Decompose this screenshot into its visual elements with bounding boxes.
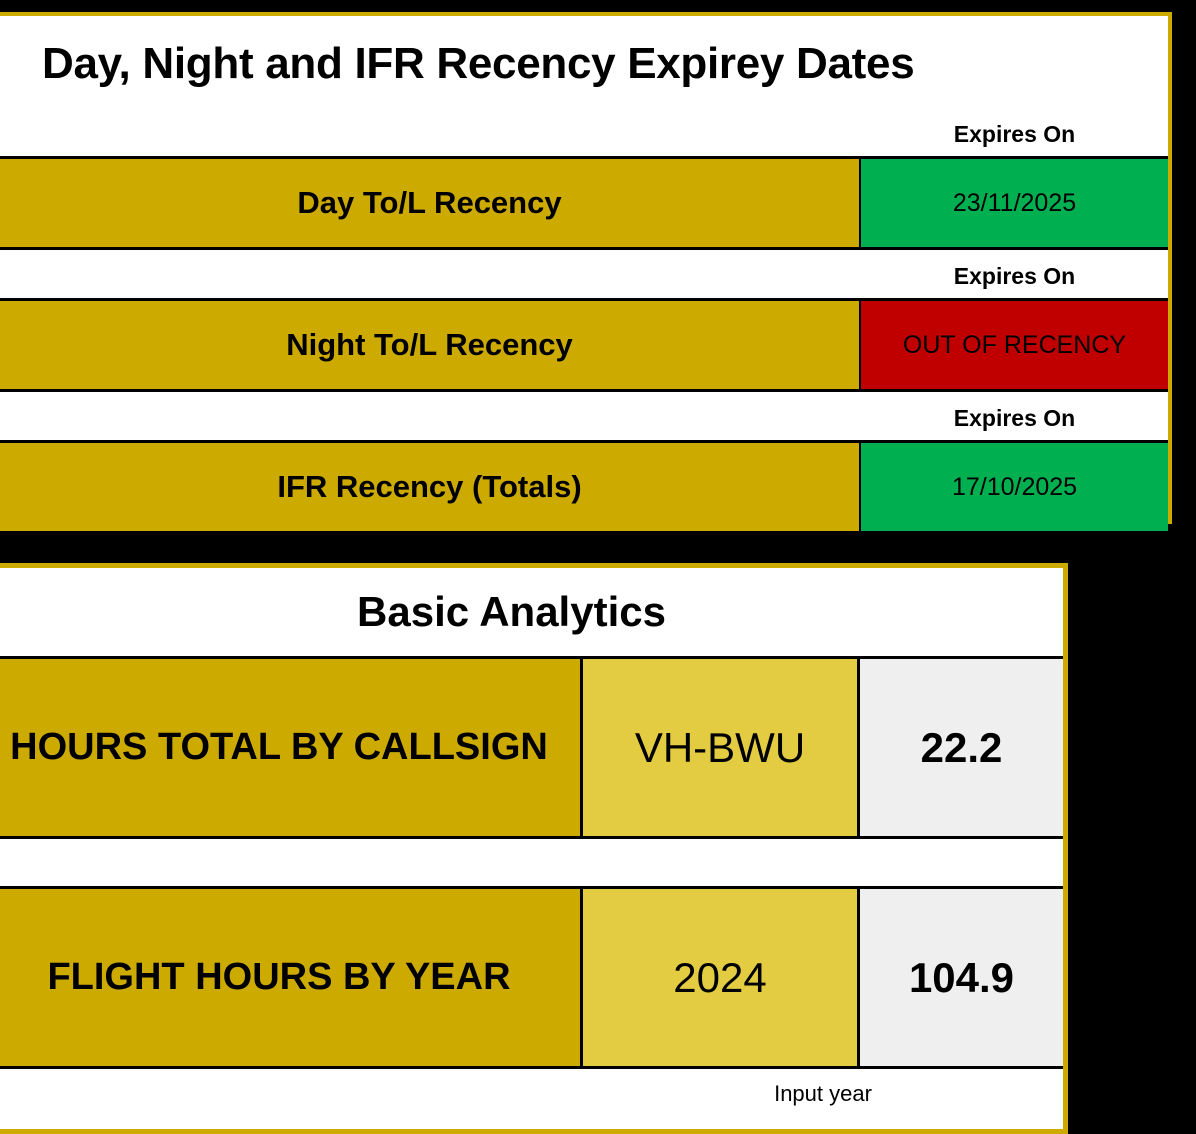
analytics-footer-spacer bbox=[0, 1069, 583, 1118]
analytics-spacer bbox=[0, 839, 1063, 886]
recency-header-row-night: Expires On bbox=[0, 254, 1168, 298]
recency-status-night: OUT OF RECENCY bbox=[903, 331, 1126, 360]
recency-header-row-ifr: Expires On bbox=[0, 396, 1168, 440]
recency-label-day: Day To/L Recency bbox=[297, 185, 561, 221]
recency-row-day[interactable]: Day To/L Recency 23/11/2025 bbox=[0, 156, 1168, 250]
recency-label-cell-day: Day To/L Recency bbox=[0, 159, 861, 247]
recency-header-cell-day: Expires On bbox=[861, 112, 1168, 156]
recency-row-ifr[interactable]: IFR Recency (Totals) 17/10/2025 bbox=[0, 440, 1168, 534]
analytics-row-year[interactable]: FLIGHT HOURS BY YEAR 2024 104.9 bbox=[0, 886, 1063, 1069]
recency-title-row: Day, Night and IFR Recency Expirey Dates bbox=[0, 16, 1168, 112]
analytics-key-value-year: 2024 bbox=[673, 954, 766, 1002]
input-year-hint: Input year bbox=[774, 1081, 872, 1107]
expires-on-label-day: Expires On bbox=[954, 121, 1075, 148]
analytics-metric-label-callsign: HOURS TOTAL BY CALLSIGN bbox=[10, 726, 548, 769]
recency-status-cell-ifr: 17/10/2025 bbox=[861, 443, 1168, 531]
analytics-value-cell-callsign: 22.2 bbox=[860, 659, 1063, 836]
recency-header-cell-night: Expires On bbox=[861, 254, 1168, 298]
expires-on-label-night: Expires On bbox=[954, 263, 1075, 290]
recency-header-spacer-day bbox=[0, 112, 861, 156]
analytics-panel-title: Basic Analytics bbox=[357, 588, 706, 636]
recency-panel: Day, Night and IFR Recency Expirey Dates… bbox=[0, 12, 1172, 524]
analytics-result-year: 104.9 bbox=[909, 954, 1014, 1002]
recency-status-cell-day: 23/11/2025 bbox=[861, 159, 1168, 247]
expires-on-label-ifr: Expires On bbox=[954, 405, 1075, 432]
analytics-title-row: Basic Analytics bbox=[0, 568, 1063, 656]
recency-header-spacer-ifr bbox=[0, 396, 861, 440]
analytics-key-cell-callsign[interactable]: VH-BWU bbox=[583, 659, 860, 836]
recency-header-spacer-night bbox=[0, 254, 861, 298]
recency-header-cell-ifr: Expires On bbox=[861, 396, 1168, 440]
recency-label-cell-ifr: IFR Recency (Totals) bbox=[0, 443, 861, 531]
recency-status-ifr: 17/10/2025 bbox=[952, 473, 1077, 502]
recency-row-night[interactable]: Night To/L Recency OUT OF RECENCY bbox=[0, 298, 1168, 392]
analytics-key-cell-year[interactable]: 2024 bbox=[583, 889, 860, 1066]
recency-status-day: 23/11/2025 bbox=[953, 189, 1076, 218]
analytics-footer-cell: Input year bbox=[583, 1069, 1063, 1118]
recency-label-night: Night To/L Recency bbox=[286, 327, 573, 363]
recency-header-row-day: Expires On bbox=[0, 112, 1168, 156]
analytics-metric-cell-year: FLIGHT HOURS BY YEAR bbox=[0, 889, 583, 1066]
recency-label-cell-night: Night To/L Recency bbox=[0, 301, 861, 389]
recency-status-cell-night: OUT OF RECENCY bbox=[861, 301, 1168, 389]
analytics-metric-cell-callsign: HOURS TOTAL BY CALLSIGN bbox=[0, 659, 583, 836]
analytics-value-cell-year: 104.9 bbox=[860, 889, 1063, 1066]
analytics-metric-label-year: FLIGHT HOURS BY YEAR bbox=[47, 956, 510, 999]
analytics-key-value-callsign: VH-BWU bbox=[635, 724, 805, 772]
analytics-footer-row: Input year bbox=[0, 1069, 1063, 1118]
analytics-result-callsign: 22.2 bbox=[921, 724, 1003, 772]
analytics-row-callsign[interactable]: HOURS TOTAL BY CALLSIGN VH-BWU 22.2 bbox=[0, 656, 1063, 839]
recency-panel-title: Day, Night and IFR Recency Expirey Dates bbox=[0, 39, 914, 89]
analytics-panel: Basic Analytics HOURS TOTAL BY CALLSIGN … bbox=[0, 563, 1068, 1134]
recency-label-ifr: IFR Recency (Totals) bbox=[277, 469, 581, 505]
